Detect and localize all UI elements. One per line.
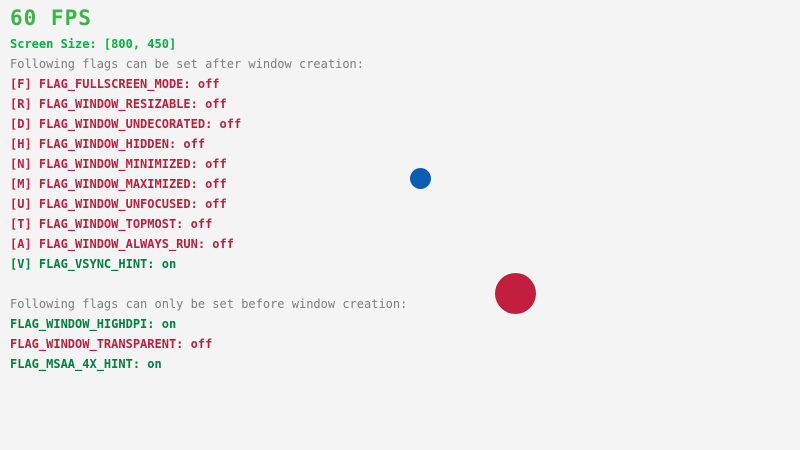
game-window[interactable]: 60 FPS Screen Size: [800, 450] Following… (0, 0, 800, 450)
blue-ball-shape (410, 168, 431, 189)
flag-row-window-always-run[interactable]: [A] FLAG_WINDOW_ALWAYS_RUN: off (10, 238, 234, 250)
flag-row-msaa-4x-hint: FLAG_MSAA_4X_HINT: on (10, 358, 162, 370)
runtime-flags-note: Following flags can be set after window … (10, 58, 364, 70)
red-ball-shape (495, 273, 536, 314)
flag-row-window-topmost[interactable]: [T] FLAG_WINDOW_TOPMOST: off (10, 218, 212, 230)
fps-counter: 60 FPS (10, 8, 92, 29)
screen-size-label: Screen Size: [800, 450] (10, 38, 176, 50)
flag-row-window-highdpi: FLAG_WINDOW_HIGHDPI: on (10, 318, 176, 330)
flag-row-vsync-hint[interactable]: [V] FLAG_VSYNC_HINT: on (10, 258, 176, 270)
flag-row-window-unfocused[interactable]: [U] FLAG_WINDOW_UNFOCUSED: off (10, 198, 227, 210)
flag-row-window-undecorated[interactable]: [D] FLAG_WINDOW_UNDECORATED: off (10, 118, 241, 130)
flag-row-window-resizable[interactable]: [R] FLAG_WINDOW_RESIZABLE: off (10, 98, 227, 110)
flag-row-window-transparent: FLAG_WINDOW_TRANSPARENT: off (10, 338, 212, 350)
flag-row-window-minimized[interactable]: [N] FLAG_WINDOW_MINIMIZED: off (10, 158, 227, 170)
flag-row-window-hidden[interactable]: [H] FLAG_WINDOW_HIDDEN: off (10, 138, 205, 150)
flag-row-window-maximized[interactable]: [M] FLAG_WINDOW_MAXIMIZED: off (10, 178, 227, 190)
startup-flags-note: Following flags can only be set before w… (10, 298, 407, 310)
flag-row-fullscreen-mode[interactable]: [F] FLAG_FULLSCREEN_MODE: off (10, 78, 220, 90)
